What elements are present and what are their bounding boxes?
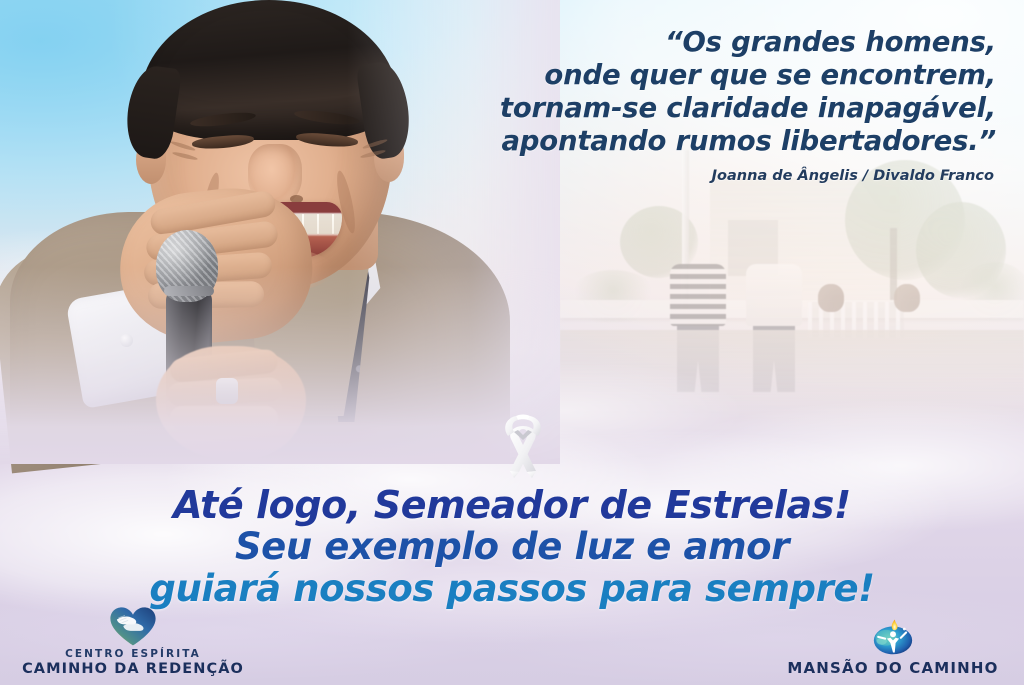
headline-line-2: Seu exemplo de luz e amor xyxy=(0,526,1024,568)
quote-line-3: tornam-se claridade inapagável, xyxy=(356,92,996,125)
headline-block: Até logo, Semeador de Estrelas! Seu exem… xyxy=(0,484,1024,610)
quote-attribution: Joanna de Ângelis / Divaldo Franco xyxy=(354,168,994,184)
memorial-poster: “Os grandes homens, onde quer que se enc… xyxy=(0,0,1024,685)
quote-line-4: apontando rumos libertadores.” xyxy=(356,125,996,158)
logo-centro-espirita-caminho-da-redencao: CENTRO ESPÍRITA CAMINHO DA REDENÇÃO xyxy=(8,607,258,677)
quote-block: “Os grandes homens, onde quer que se enc… xyxy=(356,26,996,158)
heart-with-hands-icon xyxy=(8,607,258,647)
logo-right-line-2: MANSÃO DO CAMINHO xyxy=(768,659,1018,677)
finger-ring xyxy=(216,378,238,404)
globe-with-figure-and-flame-icon xyxy=(768,618,1018,658)
logo-left-line-1: CENTRO ESPÍRITA xyxy=(8,648,258,660)
logo-mansao-do-caminho: MANSÃO DO CAMINHO xyxy=(768,618,1018,677)
finger xyxy=(170,406,278,430)
microphone-ring xyxy=(164,286,214,296)
white-ribbon-icon xyxy=(486,408,560,482)
headline-line-3: guiará nossos passos para sempre! xyxy=(0,568,1024,610)
headline-line-1: Até logo, Semeador de Estrelas! xyxy=(0,484,1024,526)
quote-line-2: onde quer que se encontrem, xyxy=(356,59,996,92)
quote-line-1: “Os grandes homens, xyxy=(356,26,996,59)
logo-left-line-2: CAMINHO DA REDENÇÃO xyxy=(8,661,258,677)
cuff-button xyxy=(120,334,133,347)
